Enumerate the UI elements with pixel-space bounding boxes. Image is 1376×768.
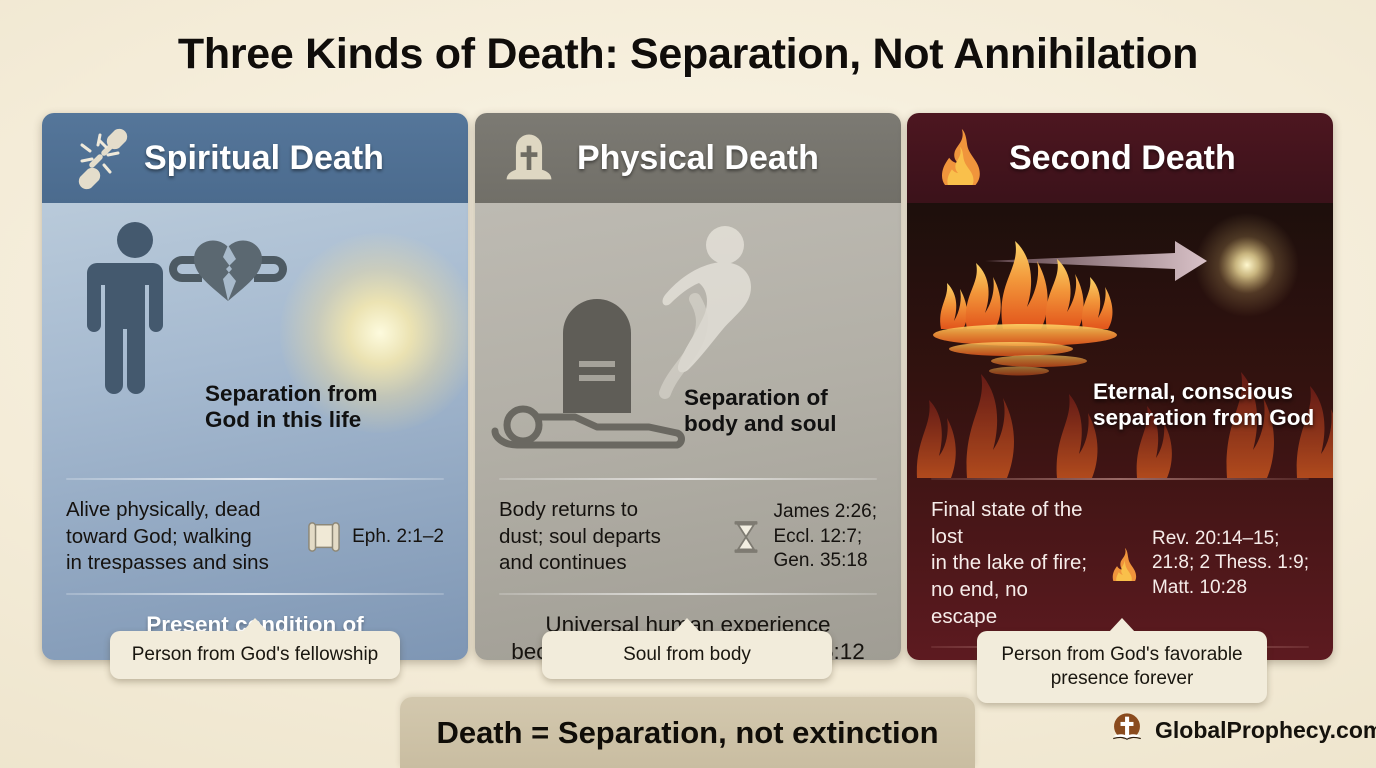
detail-text-physical: Body returns to dust; soul departs and c…	[499, 497, 718, 577]
hero-art-spiritual	[42, 203, 468, 478]
detail-line3: no end, no escape	[931, 577, 1096, 630]
card-body-second: Eternal, conscious separation from God F…	[907, 203, 1333, 660]
hero-physical: Separation of body and soul	[475, 203, 901, 478]
detail-text-spiritual: Alive physically, dead toward God; walki…	[66, 497, 296, 577]
card-title-spiritual: Spiritual Death	[144, 139, 384, 178]
ref-line3: Matt. 10:28	[1152, 576, 1309, 600]
hero-second: Eternal, conscious separation from God	[907, 203, 1333, 478]
detail-line2: dust; soul departs	[499, 524, 718, 551]
hourglass-icon	[724, 519, 768, 555]
hero-caption-line2: body and soul	[684, 411, 837, 437]
ref-line2: 21:8; 2 Thess. 1:9;	[1152, 551, 1309, 575]
callout-spiritual: Person from God's fellowship	[110, 631, 400, 679]
ref-text-physical: James 2:26; Eccl. 12:7; Gen. 35:18	[774, 500, 878, 573]
detail-line3: in trespasses and sins	[66, 550, 296, 577]
card-header-physical: Physical Death	[475, 113, 901, 203]
hero-spiritual: Separation from God in this life	[42, 203, 468, 478]
cross-bible-logo-icon	[1110, 711, 1144, 750]
detail-line1: Body returns to	[499, 497, 718, 524]
ref-text-spiritual: Eph. 2:1–2	[352, 525, 444, 549]
card-header-second: Second Death	[907, 113, 1333, 203]
flame-icon	[933, 125, 993, 191]
ref-text-second: Rev. 20:14–15; 21:8; 2 Thess. 1:9; Matt.…	[1152, 527, 1309, 600]
hero-caption-line1: Separation from	[205, 381, 378, 407]
card-title-physical: Physical Death	[577, 139, 819, 178]
scroll-icon	[302, 521, 346, 553]
callout-line2: presence forever	[993, 667, 1251, 691]
broken-chain-icon	[68, 125, 128, 191]
detail-line1: Final state of the lost	[931, 497, 1096, 550]
ref-line1: Rev. 20:14–15;	[1152, 527, 1309, 551]
callout-line1: Person from God's favorable	[993, 643, 1251, 667]
card-second-death: Second Death	[907, 113, 1333, 660]
card-spiritual-death: Spiritual Death	[42, 113, 468, 660]
hero-caption-physical: Separation of body and soul	[684, 385, 837, 438]
detail-row-physical: Body returns to dust; soul departs and c…	[475, 480, 901, 583]
card-title-second: Second Death	[1009, 139, 1236, 178]
tombstone-icon	[501, 125, 561, 191]
ref-line1: James 2:26;	[774, 500, 878, 524]
page-title: Three Kinds of Death: Separation, Not An…	[0, 30, 1376, 79]
detail-line2: in the lake of fire;	[931, 550, 1096, 577]
hero-caption-spiritual: Separation from God in this life	[205, 381, 378, 434]
hero-caption-line2: God in this life	[205, 407, 378, 433]
hero-caption-second: Eternal, conscious separation from God	[1093, 379, 1314, 432]
card-body-physical: Separation of body and soul Body returns…	[475, 203, 901, 660]
detail-line1: Alive physically, dead	[66, 497, 296, 524]
hero-caption-line1: Eternal, conscious	[1093, 379, 1314, 405]
brand-logo[interactable]: GlobalProphecy.com	[1110, 711, 1376, 750]
card-header-spiritual: Spiritual Death	[42, 113, 468, 203]
bottom-banner: Death = Separation, not extinction	[400, 697, 975, 768]
detail-line2: toward God; walking	[66, 524, 296, 551]
ref-line2: Eccl. 12:7;	[774, 525, 878, 549]
ref-line3: Gen. 35:18	[774, 549, 878, 573]
detail-text-second: Final state of the lost in the lake of f…	[931, 497, 1096, 630]
detail-row-spiritual: Alive physically, dead toward God; walki…	[42, 480, 468, 583]
brand-name: GlobalProphecy.com	[1155, 717, 1376, 744]
hero-caption-line2: separation from God	[1093, 405, 1314, 431]
detail-row-second: Final state of the lost in the lake of f…	[907, 480, 1333, 636]
bottom-banner-text: Death = Separation, not extinction	[436, 715, 938, 751]
card-physical-death: Physical Death	[475, 113, 901, 660]
callout-physical: Soul from body	[542, 631, 832, 679]
detail-line3: and continues	[499, 550, 718, 577]
hero-art-second	[907, 203, 1333, 478]
callout-second: Person from God's favorable presence for…	[977, 631, 1267, 703]
flame-icon	[1102, 546, 1146, 581]
card-body-spiritual: Separation from God in this life Alive p…	[42, 203, 468, 660]
hero-caption-line1: Separation of	[684, 385, 837, 411]
